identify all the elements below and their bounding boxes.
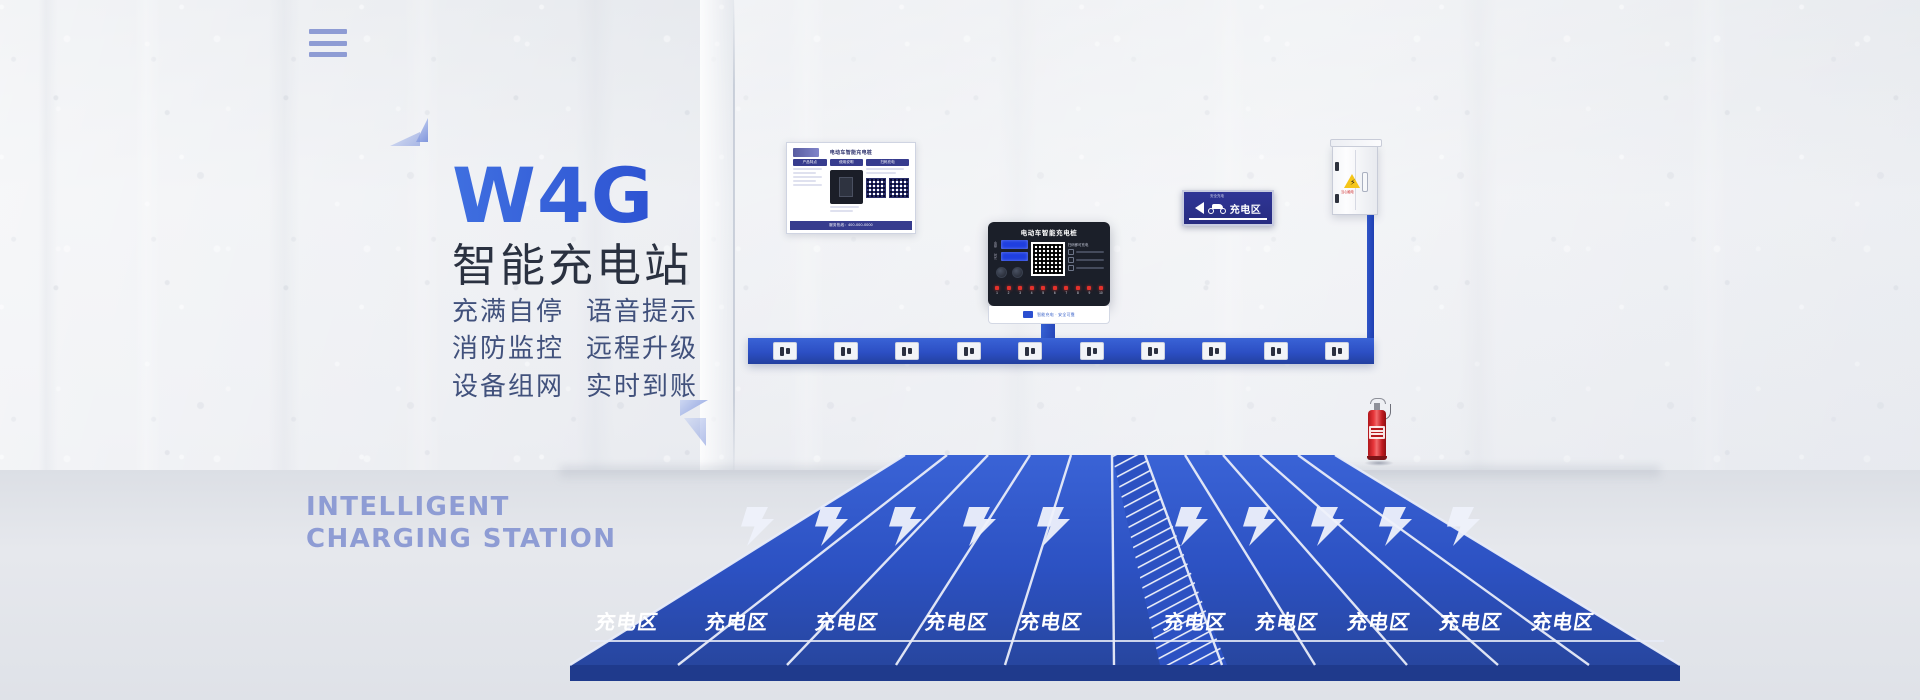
- wall-right-panel: [734, 0, 1920, 472]
- feature-item: 远程升级: [586, 331, 698, 365]
- menu-bar-1: [309, 29, 347, 34]
- speaker-icon: [996, 267, 1007, 278]
- hero-banner: W4G 智能充电站 充满自停 语音提示 消防监控 远程升级 设备组网 实时到账 …: [0, 0, 1920, 700]
- lcd-screen-duration: [1001, 252, 1028, 261]
- bay-label: 充电区: [814, 610, 881, 634]
- pile-port[interactable]: 2: [1007, 286, 1011, 295]
- pile-port[interactable]: 9: [1087, 286, 1091, 295]
- cabinet-hinge: [1335, 162, 1339, 171]
- poster-qr-code: [889, 178, 909, 198]
- feature-item: 充满自停: [452, 294, 564, 328]
- feature-item: 语音提示: [586, 294, 698, 328]
- cabinet-conduit: [1367, 215, 1374, 341]
- feature-item: 实时到账: [586, 369, 698, 403]
- cabinet-handle[interactable]: [1362, 172, 1368, 192]
- parking-bays-svg: 充电区 充电区 充电区 充电区 充电区 充电区 充电区 充电区 充电区 充电区: [560, 455, 1680, 700]
- parking-bay-area: 充电区 充电区 充电区 充电区 充电区 充电区 充电区 充电区 充电区 充电区: [560, 455, 1680, 700]
- pile-qr-code[interactable]: [1031, 242, 1065, 276]
- power-socket[interactable]: [1018, 342, 1042, 360]
- poster-device-illustration: [830, 170, 864, 204]
- poster-column-head: 扫码充电: [866, 159, 909, 166]
- power-socket[interactable]: [957, 342, 981, 360]
- pile-port[interactable]: 7: [1064, 286, 1068, 295]
- pile-info-head: 扫码即可充电: [1068, 242, 1104, 247]
- cabinet-hinge: [1335, 194, 1339, 203]
- bay-label: 充电区: [1018, 610, 1085, 634]
- pile-title: 电动车智能充电桩: [991, 225, 1107, 240]
- pile-brand-text: 智能充电 · 安全可靠: [1037, 312, 1075, 318]
- scooter-icon: [1208, 203, 1226, 214]
- power-socket[interactable]: [1202, 342, 1226, 360]
- sign-tag: 安全充电: [1210, 194, 1224, 199]
- menu-bar-2: [309, 41, 347, 46]
- pile-footer-brand: 智能充电 · 安全可靠: [988, 306, 1110, 324]
- feature-item: 设备组网: [452, 369, 564, 403]
- bay-label: 充电区: [1346, 610, 1413, 634]
- bay-label: 充电区: [1254, 610, 1321, 634]
- cabinet-cap: [1330, 139, 1382, 147]
- sign-underline: [1189, 218, 1267, 220]
- power-socket[interactable]: [1264, 342, 1288, 360]
- charging-pile-device[interactable]: 电动车智能充电桩 余额 时长 扫码即可充电: [988, 222, 1110, 306]
- bay-label: 充电区: [1162, 610, 1229, 634]
- info-icon: [1068, 265, 1074, 271]
- pile-port-row: 1 2 3 4 5 6 7 8 9 10: [991, 282, 1107, 295]
- poster-column: 产品特点: [793, 159, 827, 221]
- power-socket[interactable]: [1080, 342, 1104, 360]
- instruction-poster: 电动车智能充电桩 产品特点 使用说明 扫码充电: [786, 142, 916, 234]
- pile-info-panel: 扫码即可充电: [1068, 240, 1104, 282]
- info-icon: [1068, 249, 1074, 255]
- bay-label: 充电区: [924, 610, 991, 634]
- decorative-shard-bottom: [680, 400, 726, 450]
- socket-rail: [748, 338, 1374, 364]
- poster-column-head: 产品特点: [793, 159, 827, 166]
- hamburger-menu-icon[interactable]: [309, 29, 347, 57]
- direction-sign: 安全充电 充电区: [1182, 190, 1274, 226]
- extinguisher-label: [1369, 426, 1385, 439]
- poster-columns: 产品特点 使用说明 扫码充电: [790, 156, 912, 224]
- menu-bar-3: [309, 52, 347, 57]
- electrical-cabinet: ⚡ 当心触电: [1332, 145, 1378, 215]
- feature-item: 消防监控: [452, 331, 564, 365]
- sign-label: 充电区: [1230, 201, 1262, 216]
- pile-port[interactable]: 8: [1076, 286, 1080, 295]
- info-icon: [1068, 257, 1074, 263]
- pile-port[interactable]: 10: [1099, 286, 1103, 295]
- pile-port[interactable]: 5: [1041, 286, 1045, 295]
- poster-qr-code: [866, 178, 886, 198]
- poster-column: 扫码充电: [866, 159, 909, 221]
- bay-label: 充电区: [704, 610, 771, 634]
- poster-column: 使用说明: [830, 159, 864, 221]
- pile-port[interactable]: 6: [1053, 286, 1057, 295]
- pile-port[interactable]: 4: [1030, 286, 1034, 295]
- lightning-bolt-icon: ⚡: [1350, 179, 1356, 187]
- power-socket[interactable]: [834, 342, 858, 360]
- bay-label: 充电区: [594, 610, 661, 634]
- power-socket[interactable]: [895, 342, 919, 360]
- pile-port[interactable]: 3: [1018, 286, 1022, 295]
- power-socket[interactable]: [773, 342, 797, 360]
- left-arrow-icon: [1195, 202, 1204, 214]
- bay-label: 充电区: [1530, 610, 1597, 634]
- poster-column-head: 使用说明: [830, 159, 864, 166]
- page-title: 智能充电站: [452, 242, 872, 291]
- decorative-shard-top: [390, 118, 436, 158]
- warning-label: 当心触电: [1341, 189, 1354, 194]
- lcd-label: 时长: [994, 254, 999, 260]
- nfc-reader-icon[interactable]: [1012, 267, 1023, 278]
- power-socket[interactable]: [1141, 342, 1165, 360]
- lcd-screen-balance: [1001, 240, 1028, 249]
- poster-footer: 服务热线：400-000-0000: [790, 221, 912, 230]
- feature-list: 充满自停 语音提示 消防监控 远程升级 设备组网 实时到账: [452, 294, 698, 403]
- pile-display-panel: 余额 时长: [994, 240, 1028, 282]
- brand-chip-icon: [1023, 311, 1033, 318]
- lcd-label: 余额: [994, 242, 999, 248]
- bay-label: 充电区: [1438, 610, 1505, 634]
- power-socket[interactable]: [1325, 342, 1349, 360]
- poster-logo: [793, 148, 819, 157]
- pile-port[interactable]: 1: [995, 286, 999, 295]
